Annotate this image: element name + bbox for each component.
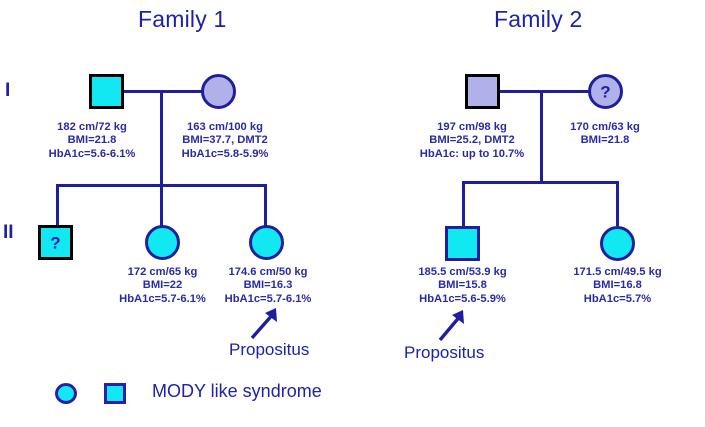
f1-gen2-son-square[interactable]: ?	[38, 225, 73, 260]
info-line: HbA1c=5.7%	[556, 293, 679, 306]
f1-gen2-daughter1-info: 172 cm/65 kg BMI=22 HbA1c=5.7-6.1%	[110, 266, 215, 306]
info-line: HbA1c=5.7-6.1%	[213, 293, 323, 306]
unknown-status-marker: ?	[591, 83, 620, 100]
f2-sibling-drop-1	[462, 181, 465, 226]
f1-gen1-mother-info: 163 cm/100 kg BMI=37.7, DMT2 HbA1c=5.8-5…	[165, 121, 285, 161]
generation-label-I: I	[5, 80, 10, 102]
legend-label: MODY like syndrome	[152, 381, 322, 402]
f1-sibling-drop-3	[264, 184, 267, 226]
info-line: 185.5 cm/53.9 kg	[401, 266, 524, 279]
f2-mating-line	[499, 90, 589, 93]
f2-gen1-father-info: 197 cm/98 kg BMI=25.2, DMT2 HbA1c: up to…	[408, 121, 536, 161]
f1-gen2-daughter2-circle-propositus[interactable]	[249, 225, 284, 260]
info-line: BMI=15.8	[401, 279, 524, 292]
family-1-title: Family 1	[138, 6, 227, 33]
f2-gen1-father-square[interactable]	[465, 74, 500, 109]
f2-sibling-drop-2	[616, 181, 619, 226]
f2-gen2-daughter-info: 171.5 cm/49.5 kg BMI=16.8 HbA1c=5.7%	[556, 266, 679, 306]
info-line: HbA1c=5.6-6.1%	[36, 148, 148, 161]
info-line: 174.6 cm/50 kg	[213, 266, 323, 279]
info-line: BMI=21.8	[549, 134, 661, 147]
f2-gen2-daughter-circle[interactable]	[600, 226, 635, 261]
f1-gen1-father-square[interactable]	[89, 74, 124, 109]
info-line: 182 cm/72 kg	[36, 121, 148, 134]
f2-propositus-arrow	[437, 309, 473, 345]
info-line: 197 cm/98 kg	[408, 121, 536, 134]
info-line: HbA1c=5.8-5.9%	[165, 148, 285, 161]
f2-gen2-son-info: 185.5 cm/53.9 kg BMI=15.8 HbA1c=5.6-5.9%	[401, 266, 524, 306]
info-line: BMI=16.8	[556, 279, 679, 292]
generation-label-II: II	[3, 222, 14, 244]
f1-propositus-arrow	[248, 306, 284, 342]
info-line: BMI=16.3	[213, 279, 323, 292]
f1-descent-line	[160, 90, 163, 186]
f1-propositus-label: Propositus	[229, 340, 309, 360]
legend-affected-square-icon	[104, 383, 126, 404]
f1-sibling-drop-1	[56, 184, 59, 226]
unknown-status-marker: ?	[41, 234, 70, 251]
info-line: 163 cm/100 kg	[165, 121, 285, 134]
info-line: BMI=37.7, DMT2	[165, 134, 285, 147]
info-line: 172 cm/65 kg	[110, 266, 215, 279]
f2-descent-line	[540, 90, 543, 183]
pedigree-figure: Family 1 I II 182 cm/72 kg BMI=21.8 HbA1…	[0, 0, 705, 427]
f1-gen1-father-info: 182 cm/72 kg BMI=21.8 HbA1c=5.6-6.1%	[36, 121, 148, 161]
info-line: 171.5 cm/49.5 kg	[556, 266, 679, 279]
info-line: HbA1c: up to 10.7%	[408, 148, 536, 161]
info-line: 170 cm/63 kg	[549, 121, 661, 134]
f1-gen1-mother-circle[interactable]	[201, 74, 236, 109]
legend-affected-circle-icon	[55, 383, 77, 404]
f1-gen2-daughter1-circle[interactable]	[145, 225, 180, 260]
info-line: HbA1c=5.6-5.9%	[401, 293, 524, 306]
info-line: HbA1c=5.7-6.1%	[110, 293, 215, 306]
f2-propositus-label: Propositus	[404, 343, 484, 363]
f1-gen2-daughter2-info: 174.6 cm/50 kg BMI=16.3 HbA1c=5.7-6.1%	[213, 266, 323, 306]
info-line: BMI=22	[110, 279, 215, 292]
f2-gen1-mother-circle[interactable]: ?	[588, 74, 623, 109]
f1-sibling-drop-2	[160, 184, 163, 226]
f2-gen1-mother-info: 170 cm/63 kg BMI=21.8	[549, 121, 661, 148]
info-line: BMI=21.8	[36, 134, 148, 147]
family-2-title: Family 2	[494, 6, 583, 33]
info-line: BMI=25.2, DMT2	[408, 134, 536, 147]
f2-sibship-bar	[462, 181, 619, 184]
f2-gen2-son-square-propositus[interactable]	[445, 226, 480, 261]
